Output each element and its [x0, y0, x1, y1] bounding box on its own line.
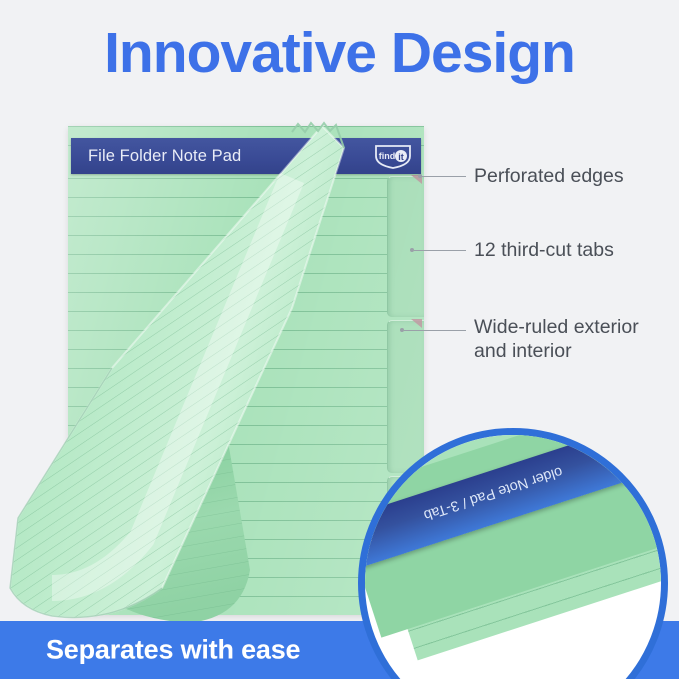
product-feature-image: Innovative Design File Folder Note Pad f…: [0, 0, 679, 679]
svg-text:find: find: [379, 151, 396, 161]
detail-inset: find it older Note Pad / 3-Tab: [358, 428, 679, 679]
page-title: Innovative Design: [0, 24, 679, 84]
leader-line-3: [404, 330, 466, 331]
callout-third-cut-tabs: 12 third-cut tabs: [474, 239, 614, 263]
callout-wide-ruled-line1: Wide-ruled exterior: [474, 316, 639, 338]
product-header-band: File Folder Note Pad find it: [71, 138, 421, 174]
detail-inset-circle: find it older Note Pad / 3-Tab: [358, 428, 668, 679]
callout-wide-ruled-line2: and interior: [474, 340, 572, 362]
banner-caption: Separates with ease: [46, 635, 300, 666]
callout-wide-ruled: Wide-ruled exterior and interior: [474, 316, 672, 364]
product-band-title: File Folder Note Pad: [88, 147, 241, 166]
inset-find-it-logo-icon: find it: [365, 521, 374, 552]
svg-text:it: it: [398, 152, 404, 162]
callout-perforated-edges: Perforated edges: [474, 165, 624, 189]
leader-line-2: [414, 250, 466, 251]
leader-line-1: [422, 176, 466, 177]
find-it-logo-icon: find it: [374, 143, 412, 169]
